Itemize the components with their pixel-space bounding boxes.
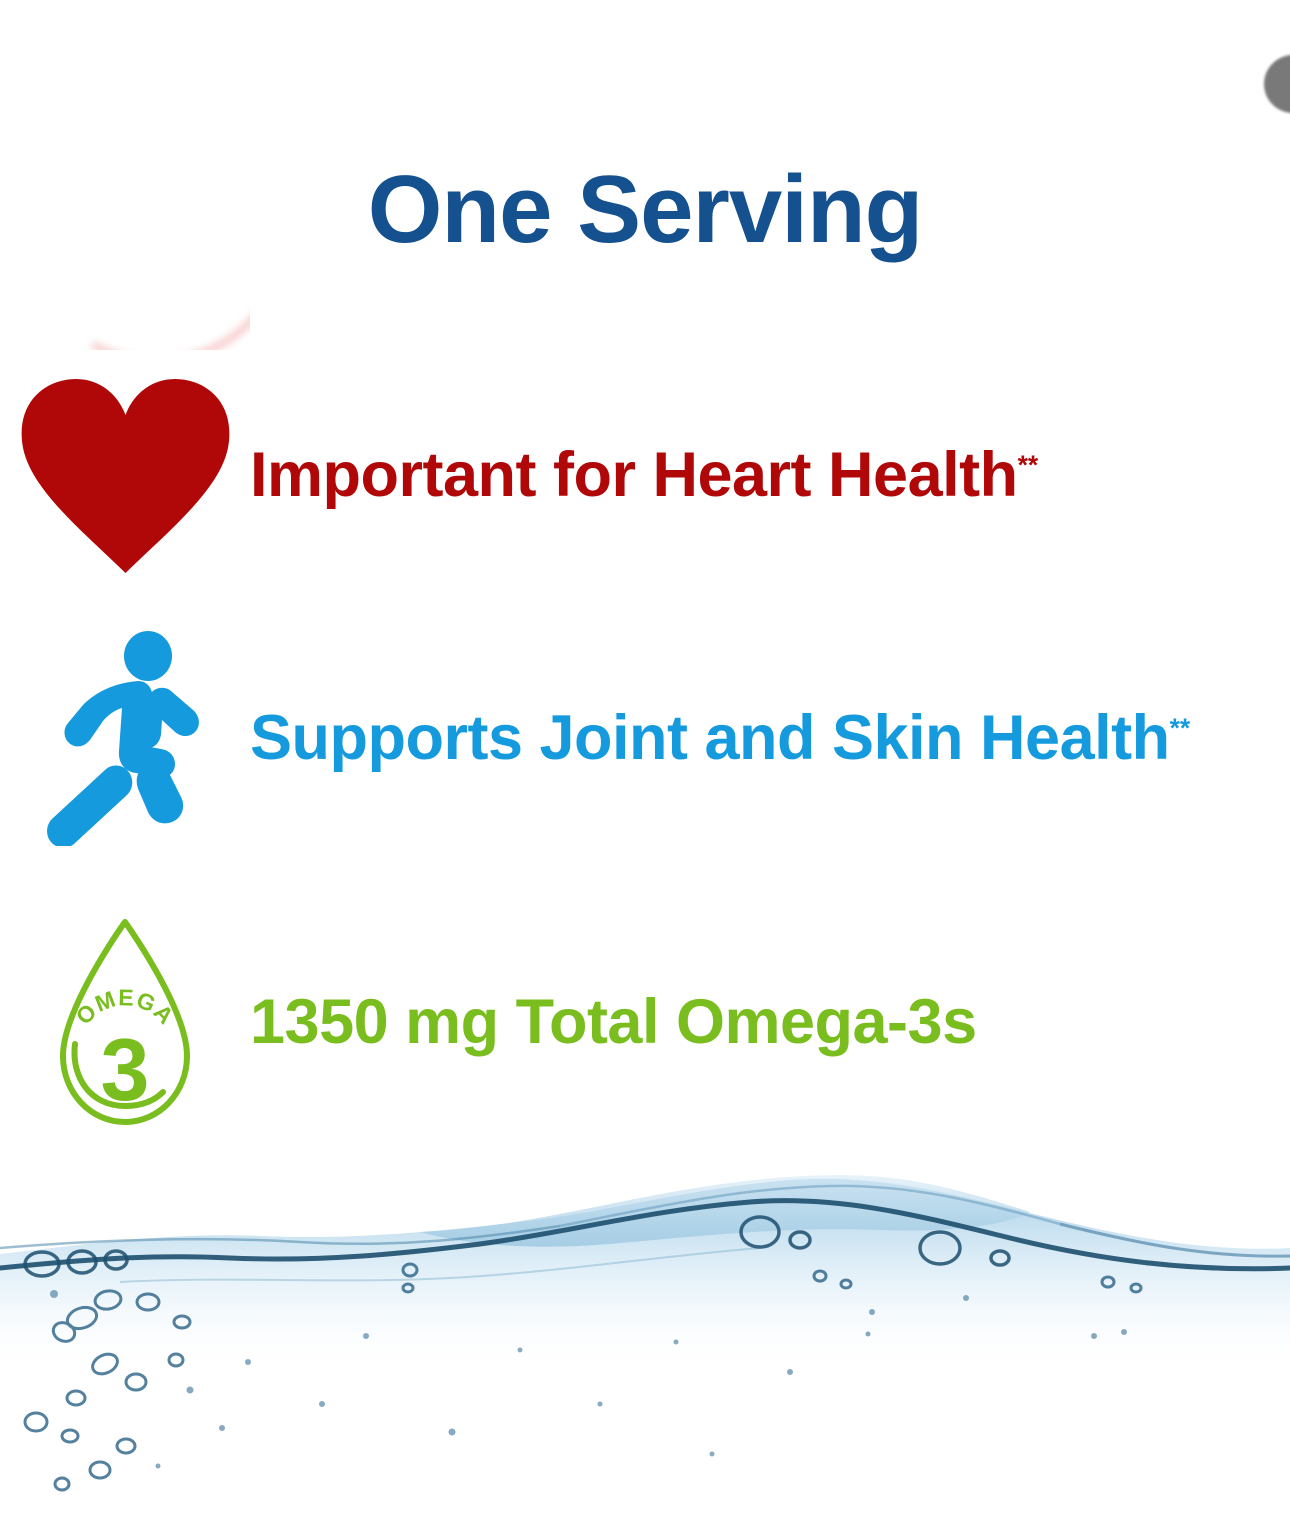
benefit-row-total-omega-3s: OMEGA 3 1350 mg Total Omega-3s	[0, 922, 1290, 1122]
omega-3-droplet-icon: OMEGA 3	[55, 916, 195, 1128]
benefit-label-total-omega-3s: 1350 mg Total Omega-3s	[250, 989, 1290, 1055]
omega-icon-number: 3	[101, 1020, 150, 1119]
running-man-icon-container	[0, 638, 250, 838]
benefit-text-omega: 1350 mg Total Omega-3s	[250, 987, 977, 1057]
benefit-text-joint-skin: Supports Joint and Skin Health	[250, 703, 1170, 773]
footnote-marker-joint-skin: **	[1170, 713, 1191, 743]
water-surface-graphic	[0, 1136, 1290, 1536]
benefit-text-heart: Important for Heart Health	[250, 440, 1018, 510]
omega-3-droplet-icon-container: OMEGA 3	[0, 922, 250, 1122]
heart-icon	[18, 377, 233, 573]
benefit-label-joint-skin-health: Supports Joint and Skin Health**	[250, 705, 1290, 771]
footnote-marker-heart: **	[1018, 450, 1039, 480]
heart-icon-container	[0, 375, 250, 575]
benefit-label-heart-health: Important for Heart Health**	[250, 442, 1290, 508]
benefit-row-heart-health: Important for Heart Health**	[0, 375, 1290, 575]
product-benefits-infographic: One Serving Important for Heart Health**	[0, 0, 1290, 1536]
page-title: One Serving	[0, 162, 1290, 258]
cropped-circle-artifact	[1264, 55, 1290, 113]
benefit-row-joint-skin-health: Supports Joint and Skin Health**	[0, 638, 1290, 838]
running-man-icon	[35, 631, 215, 846]
